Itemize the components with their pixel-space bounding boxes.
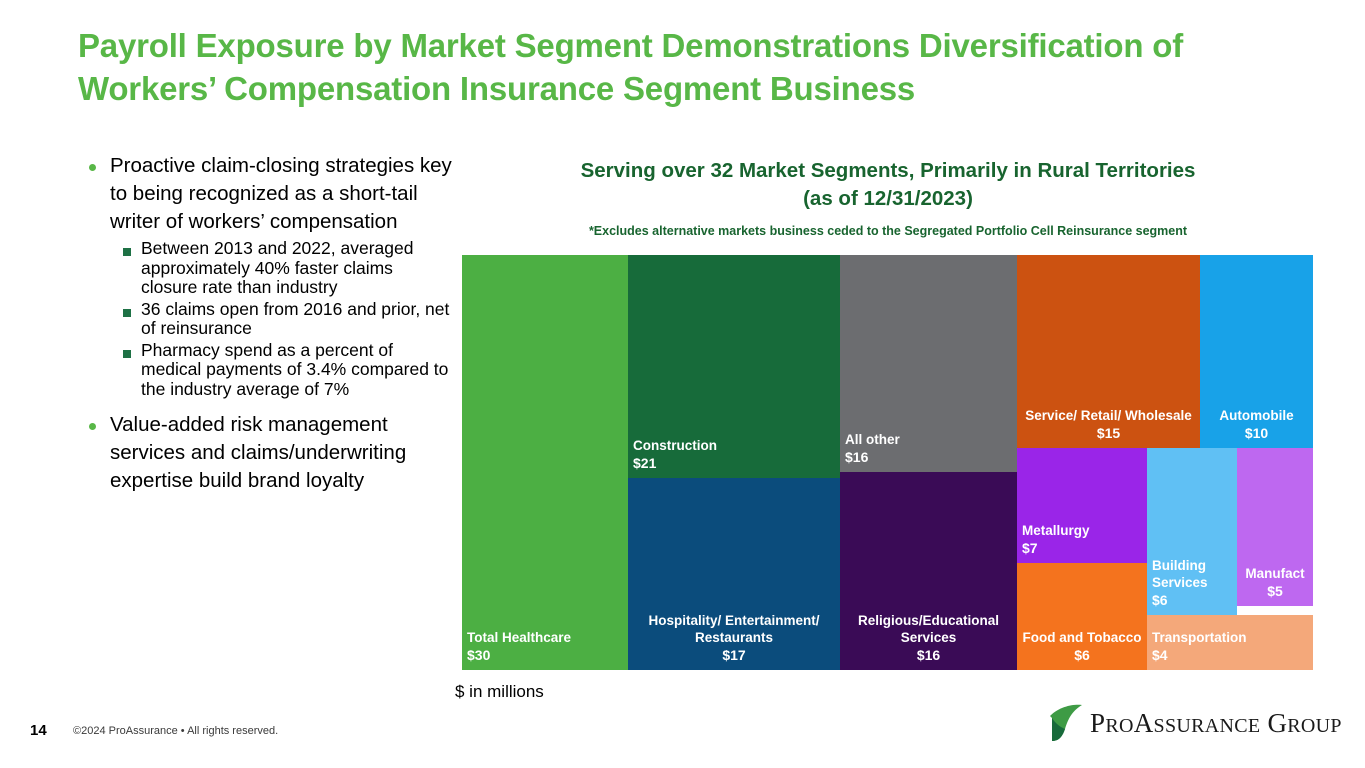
treemap-tile-value: $7 [1022, 539, 1142, 557]
chart-footnote: *Excludes alternative markets business c… [463, 224, 1313, 238]
treemap-tile-label: Religious/Educational Services [845, 612, 1012, 646]
sub-bullet-list: Between 2013 and 2022, averaged approxim… [110, 239, 452, 399]
treemap-tile[interactable]: Food and Tobacco$6 [1017, 563, 1147, 670]
treemap-tile-label: Service/ Retail/ Wholesale [1022, 407, 1195, 424]
treemap-tile[interactable]: Total Healthcare$30 [462, 255, 628, 670]
list-item: Pharmacy spend as a percent of medical p… [110, 341, 452, 400]
sub-bullet-text: Pharmacy spend as a percent of medical p… [141, 341, 452, 400]
treemap-tile[interactable]: Hospitality/ Entertainment/ Restaurants$… [628, 478, 840, 670]
bullet-dot-icon [89, 423, 96, 430]
treemap-tile[interactable]: Construction$21 [628, 255, 840, 478]
treemap-tile-label: Transportation [1152, 629, 1308, 646]
treemap-tile[interactable]: Service/ Retail/ Wholesale$15 [1017, 255, 1200, 448]
page-title: Payroll Exposure by Market Segment Demon… [78, 24, 1298, 110]
treemap-tile-value: $4 [1152, 646, 1308, 664]
logo-wordmark: PROASSURANCE GROUP [1090, 708, 1342, 741]
treemap-tile[interactable]: Transportation$4 [1147, 615, 1313, 670]
treemap-tile-value: $16 [845, 646, 1012, 664]
page-number: 14 [30, 722, 47, 739]
treemap-tile-value: $5 [1242, 582, 1308, 600]
treemap-tile-value: $6 [1152, 591, 1232, 609]
sub-bullet-text: 36 claims open from 2016 and prior, net … [141, 300, 452, 339]
treemap-tile-label: Manufact [1242, 565, 1308, 582]
treemap-tile-value: $21 [633, 454, 835, 472]
treemap-tile[interactable]: Metallurgy$7 [1017, 448, 1147, 563]
logo-text-p: P [1090, 708, 1105, 738]
treemap-tile-value: $6 [1022, 646, 1142, 664]
logo-text-ro: RO [1105, 715, 1133, 737]
logo-text-g: G [1267, 708, 1287, 738]
bullet-square-icon [123, 248, 131, 256]
chart-title-line1: Serving over 32 Market Segments, Primari… [463, 157, 1313, 185]
logo-text-ssurance: SSURANCE [1154, 715, 1261, 737]
bullet-dot-icon [89, 164, 96, 171]
logo-text-a: A [1134, 708, 1154, 738]
list-item: Value-added risk management services and… [80, 411, 452, 495]
treemap-tile-label: Automobile [1205, 407, 1308, 424]
units-note: $ in millions [455, 682, 544, 702]
treemap-tile[interactable]: Religious/Educational Services$16 [840, 472, 1017, 670]
bullet-square-icon [123, 350, 131, 358]
bullet-text: Proactive claim-closing strategies key t… [110, 152, 452, 236]
treemap-tile[interactable]: All other$16 [840, 255, 1017, 472]
treemap-tile-label: Building Services [1152, 557, 1232, 591]
treemap-tile-label: Metallurgy [1022, 522, 1142, 539]
treemap-chart: Total Healthcare$30Construction$21Hospit… [462, 255, 1313, 670]
copyright-notice: ©2024 ProAssurance • All rights reserved… [73, 725, 278, 737]
chart-title: Serving over 32 Market Segments, Primari… [463, 157, 1313, 213]
bullet-square-icon [123, 309, 131, 317]
list-item: Between 2013 and 2022, averaged approxim… [110, 239, 452, 298]
treemap-tile-label: Total Healthcare [467, 629, 623, 646]
treemap-tile-label: Construction [633, 437, 835, 454]
treemap-tile[interactable]: Manufact$5 [1237, 448, 1313, 606]
sub-bullet-text: Between 2013 and 2022, averaged approxim… [141, 239, 452, 298]
list-item: 36 claims open from 2016 and prior, net … [110, 300, 452, 339]
treemap-tile-value: $16 [845, 448, 1012, 466]
treemap-tile-label: Hospitality/ Entertainment/ Restaurants [633, 612, 835, 646]
treemap-tile-label: Food and Tobacco [1022, 629, 1142, 646]
company-logo: PROASSURANCE GROUP [1046, 700, 1328, 746]
logo-text-roup: ROUP [1287, 715, 1342, 737]
proassurance-leaf-icon [1046, 702, 1088, 744]
bullet-list: Proactive claim-closing strategies key t… [80, 152, 452, 501]
bullet-text: Value-added risk management services and… [110, 411, 452, 495]
treemap-tile[interactable]: Building Services$6 [1147, 448, 1237, 615]
treemap-tile-value: $17 [633, 646, 835, 664]
treemap-tile[interactable]: Automobile$10 [1200, 255, 1313, 448]
list-item: Proactive claim-closing strategies key t… [80, 152, 452, 399]
treemap-tile-label: All other [845, 431, 1012, 448]
chart-title-line2: (as of 12/31/2023) [463, 185, 1313, 213]
treemap-tile-value: $10 [1205, 424, 1308, 442]
treemap-tile-value: $30 [467, 646, 623, 664]
treemap-tile-value: $15 [1022, 424, 1195, 442]
